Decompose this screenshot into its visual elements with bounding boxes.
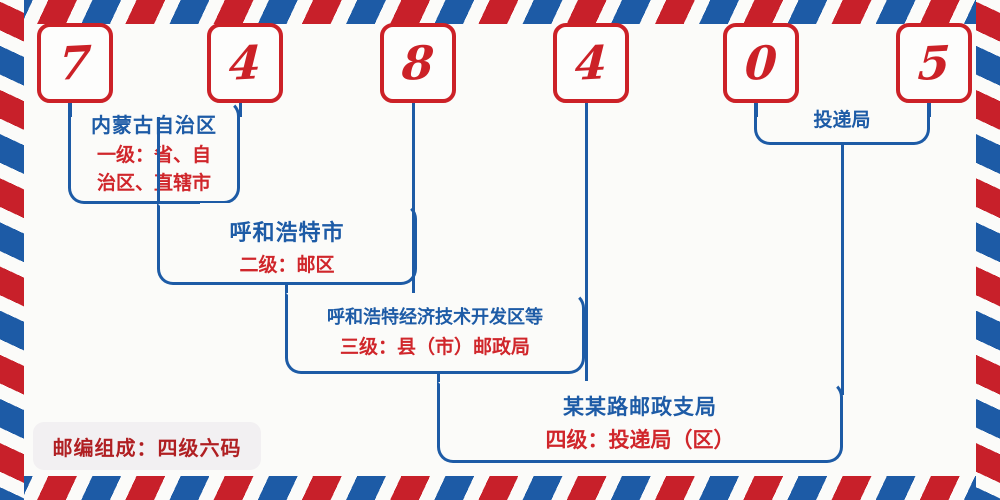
postcode-diagram: 7 4 8 4 0 5 投递局 内蒙古自治区 一级：省、自 治区、直辖市 呼和浩… [0, 0, 1000, 500]
stem-digit-4-down [585, 117, 588, 381]
digit-glyph: 8 [401, 39, 436, 87]
postcode-composition-text: 邮编组成：四级六码 [53, 432, 242, 461]
digit-glyph: 7 [58, 39, 93, 87]
level-4-box [437, 381, 843, 463]
stem-delivery-office [841, 145, 844, 395]
level-4-top-gap [480, 381, 800, 387]
level-3-top-gap [330, 292, 545, 298]
postcode-digit-1[interactable]: 7 [37, 23, 113, 103]
postcode-digit-3[interactable]: 8 [380, 23, 456, 103]
airmail-border-bottom [0, 476, 1000, 500]
postcode-digit-6[interactable]: 5 [896, 23, 972, 103]
postcode-digit-5[interactable]: 0 [723, 23, 799, 103]
postcode-composition-badge: 邮编组成：四级六码 [33, 422, 261, 470]
stem-digit-2-down [157, 117, 160, 204]
level-3-box [285, 292, 585, 374]
postcode-digit-2[interactable]: 4 [207, 23, 283, 103]
digit-glyph: 0 [744, 39, 779, 87]
stem-digit-3-down [412, 117, 415, 293]
postcode-digit-row: 7 4 8 4 0 5 [0, 0, 1000, 110]
digit-glyph: 4 [228, 39, 263, 87]
level-2-top-gap [200, 203, 380, 209]
level-1-box [68, 100, 240, 204]
postcode-digit-4[interactable]: 4 [553, 23, 629, 103]
digit-glyph: 4 [574, 39, 609, 87]
digit-glyph: 5 [917, 39, 952, 87]
level-2-box [157, 203, 417, 285]
